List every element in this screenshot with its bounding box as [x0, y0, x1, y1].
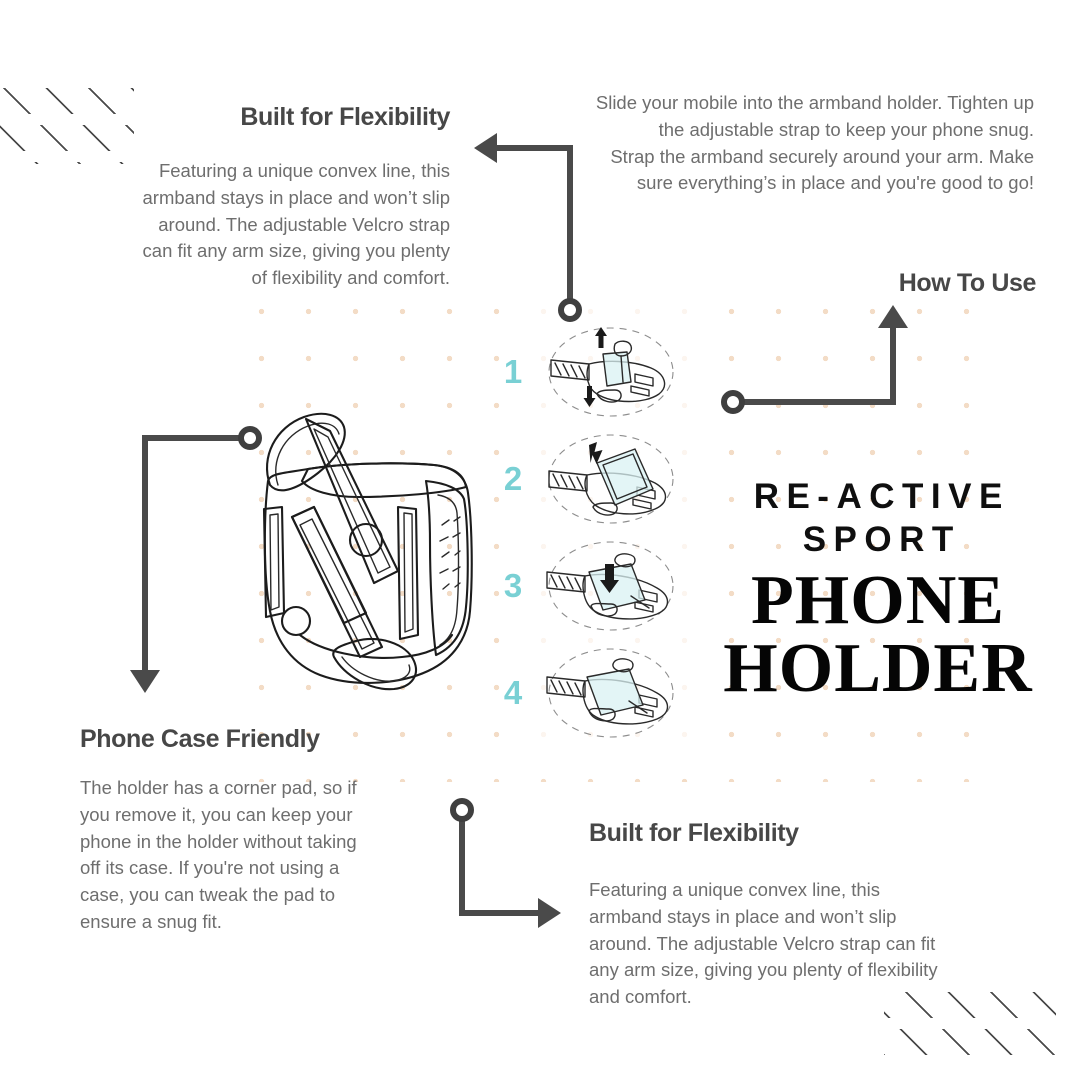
diagonal-stripes-top-left-icon — [0, 88, 134, 164]
heading-how-to-use: How To Use — [790, 270, 1036, 298]
step-number: 1 — [498, 355, 528, 388]
armband-phone-holder-illustration — [248, 385, 512, 700]
body-built-for-flexibility-top: Featuring a unique convex line, this arm… — [140, 158, 450, 292]
product-title-line-2: SPORT — [700, 519, 1056, 562]
step-item-1: 1 — [498, 318, 694, 425]
step-illustration-1 — [528, 320, 694, 424]
infographic-canvas: 1 — [0, 0, 1080, 1080]
step-illustration-2 — [528, 427, 694, 531]
body-built-for-flexibility-bottom: Featuring a unique convex line, this arm… — [589, 877, 949, 1011]
step-item-3: 3 — [498, 532, 694, 639]
body-how-to-use: Slide your mobile into the armband holde… — [590, 90, 1034, 197]
product-title-line-3: PHONE — [700, 567, 1056, 634]
connector-flexibility-bottom — [453, 801, 561, 928]
product-title-lockup: RE-ACTIVE SPORT PHONE HOLDER — [700, 476, 1056, 702]
step-number: 2 — [498, 462, 528, 495]
step-illustration-3 — [528, 534, 694, 638]
heading-built-for-flexibility-bottom: Built for Flexibility — [589, 820, 989, 848]
product-title-line-1: RE-ACTIVE — [700, 476, 1056, 519]
step-item-4: 4 — [498, 639, 694, 746]
heading-built-for-flexibility-top: Built for Flexibility — [150, 104, 450, 132]
how-to-use-step-list: 1 — [498, 318, 694, 746]
step-illustration-4 — [528, 641, 694, 745]
step-item-2: 2 — [498, 425, 694, 532]
body-phone-case-friendly: The holder has a corner pad, so if you r… — [80, 775, 380, 936]
step-number: 4 — [498, 676, 528, 709]
product-title-line-4: HOLDER — [700, 635, 1056, 702]
heading-phone-case-friendly: Phone Case Friendly — [80, 726, 420, 754]
step-number: 3 — [498, 569, 528, 602]
